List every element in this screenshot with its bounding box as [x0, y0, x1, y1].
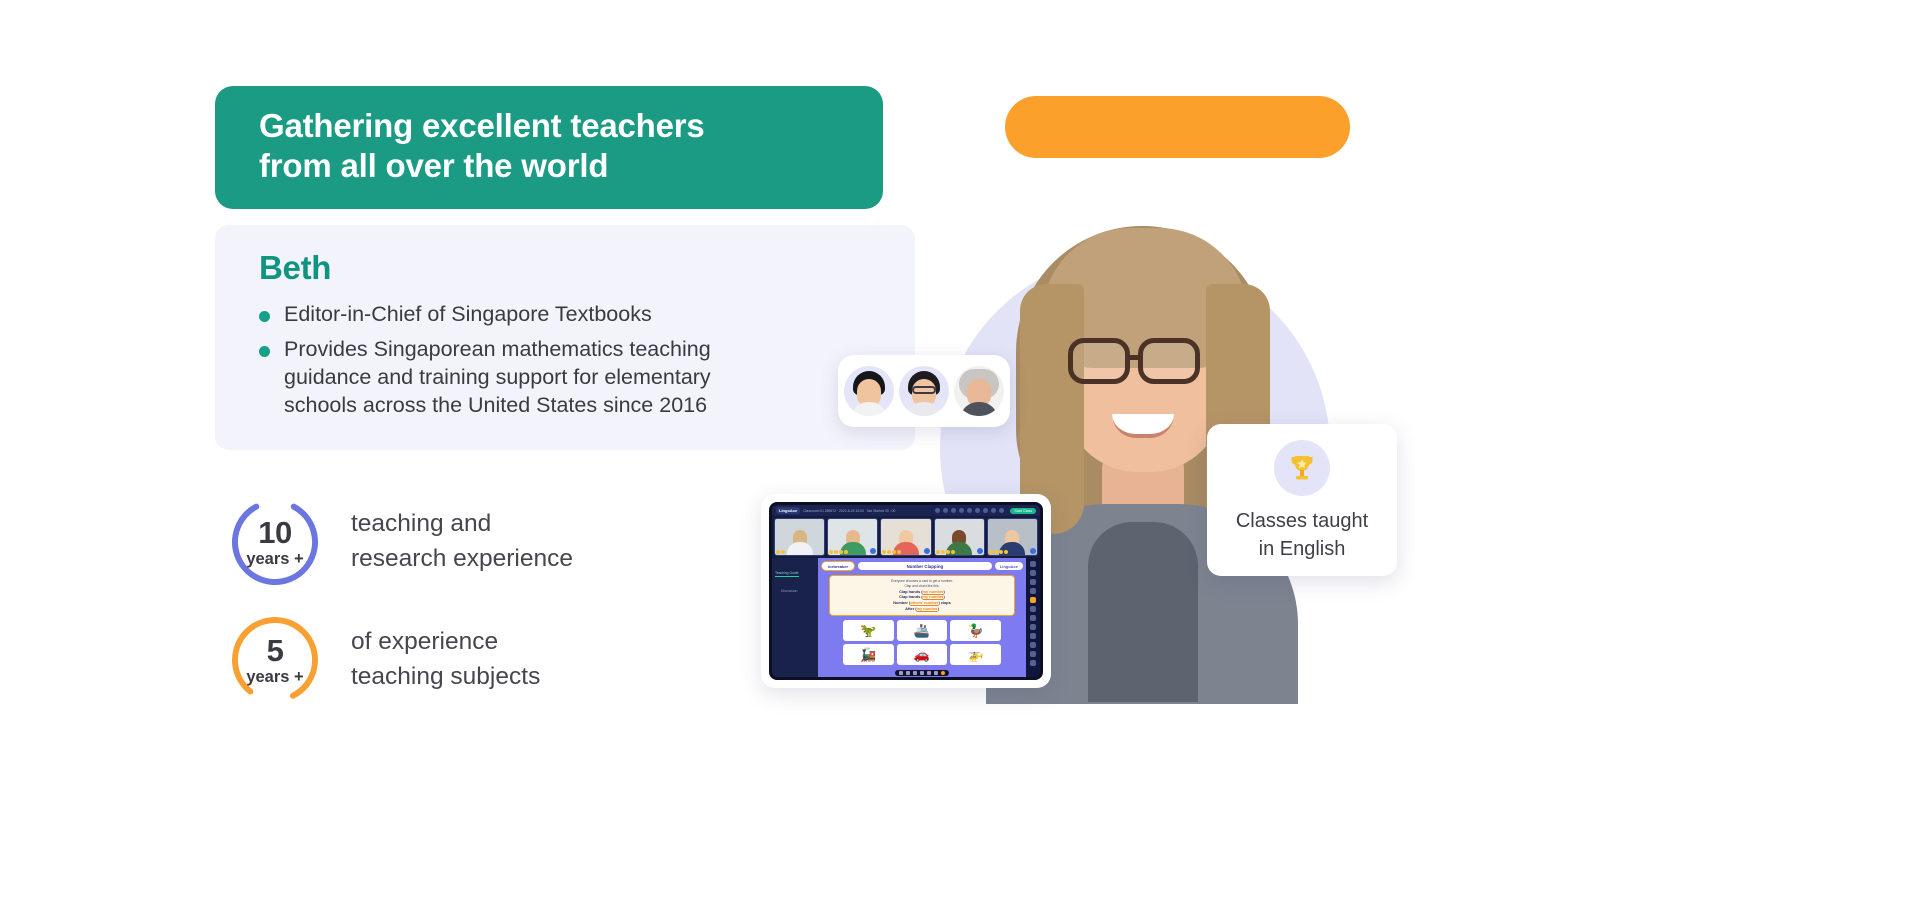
fullscreen-icon[interactable]	[934, 671, 938, 675]
tab-discussion[interactable]: Discussion	[781, 589, 797, 593]
users-icon[interactable]	[935, 508, 940, 513]
lesson-page-toolbar[interactable]	[895, 670, 949, 676]
undo-rail-icon[interactable]	[1030, 633, 1036, 639]
picture-card-train[interactable]: 🚂	[843, 644, 894, 665]
classroom-body: Teaching Guide Discussion Icebreaker Num…	[772, 558, 1040, 678]
stat-label: teaching and research experience	[351, 507, 573, 577]
pointer-tool-icon[interactable]	[941, 671, 945, 675]
bullet-line: Editor-in-Chief of Singapore Textbooks	[284, 301, 652, 329]
teacher-bio-card: Beth Editor-in-Chief of Singapore Textbo…	[215, 225, 915, 451]
mic-rail-icon[interactable]	[1030, 561, 1036, 567]
stat-label-line: research experience	[351, 542, 573, 577]
progress-ring-5-years: 5 years +	[227, 612, 323, 708]
picture-card-duck[interactable]: 🦆	[950, 620, 1001, 641]
picture-card-car[interactable]: 🚗	[897, 644, 948, 665]
zoom-out-icon[interactable]	[920, 671, 924, 675]
hand-icon[interactable]	[967, 508, 972, 513]
list-item: Editor-in-Chief of Singapore Textbooks	[259, 301, 875, 329]
page-indicator-icon	[906, 671, 910, 675]
classroom-meta: Classroom ID 289672 · 2022-8-25 10:00	[803, 509, 864, 513]
tile-controls[interactable]	[936, 550, 955, 554]
thumbsup-rail-icon[interactable]	[1030, 570, 1036, 576]
teacher-name: Beth	[259, 249, 875, 287]
badge-text: Classes taught in English	[1236, 508, 1368, 563]
board-icon[interactable]	[983, 508, 988, 513]
stat-number: 10	[258, 517, 291, 548]
trophy-icon	[1285, 451, 1319, 485]
participant-filmstrip	[772, 516, 1040, 558]
stat-unit: years +	[246, 669, 303, 686]
avatar[interactable]	[899, 366, 949, 416]
cta-button[interactable]	[1005, 96, 1350, 158]
bullet-line: guidance and training support for elemen…	[284, 364, 711, 392]
bullet-line: Provides Singaporean mathematics teachin…	[284, 336, 711, 364]
next-page-icon[interactable]	[913, 671, 917, 675]
list-item: Provides Singaporean mathematics teachin…	[259, 336, 875, 420]
teacher-avatar-group[interactable]	[838, 355, 1010, 427]
shape-rail-icon[interactable]	[1030, 615, 1036, 621]
glasses-left-lens-icon	[1068, 338, 1130, 384]
zoom-in-icon[interactable]	[927, 671, 931, 675]
glasses-bridge-icon	[1130, 355, 1140, 360]
settings-icon[interactable]	[991, 508, 996, 513]
headline-line-1: Gathering excellent teachers	[259, 106, 839, 146]
bullet-dot-icon	[259, 346, 270, 357]
classroom-screen: LingoAce Classroom ID 289672 · 2022-8-25…	[769, 502, 1043, 680]
avatar-body	[850, 402, 888, 416]
stat-label-line: of experience	[351, 625, 540, 660]
redo-rail-icon[interactable]	[1030, 642, 1036, 648]
lesson-instruction-card: Everyone chooses a card to get a number.…	[829, 575, 1015, 616]
classroom-logo: LingoAce	[776, 507, 800, 514]
participant-tile[interactable]	[774, 518, 825, 556]
stat-number: 5	[267, 635, 284, 666]
eraser-rail-icon[interactable]	[1030, 606, 1036, 612]
tablet-device: LingoAce Classroom ID 289672 · 2022-8-25…	[761, 494, 1051, 688]
expand-icon[interactable]	[999, 508, 1004, 513]
stat-label-line: teaching subjects	[351, 660, 540, 695]
avatar-body	[960, 402, 998, 416]
avatar[interactable]	[954, 366, 1004, 416]
tile-controls[interactable]	[989, 550, 1008, 554]
participant-tile[interactable]	[880, 518, 931, 556]
timer-icon[interactable]	[951, 508, 956, 513]
start-class-button[interactable]: Start Class	[1010, 508, 1036, 514]
participant-tile[interactable]	[987, 518, 1038, 556]
person-rail-icon[interactable]	[1030, 579, 1036, 585]
lesson-header: Icebreaker Number Clapping LingoAce	[821, 561, 1023, 571]
classes-taught-badge-card: Classes taught in English	[1207, 424, 1397, 576]
tile-controls[interactable]	[882, 550, 901, 554]
stat-unit: years +	[246, 551, 303, 568]
ring-inner-text: 5 years +	[227, 612, 323, 708]
lesson-stage: Icebreaker Number Clapping LingoAce Ever…	[818, 558, 1026, 678]
picture-card-ship[interactable]: 🚢	[897, 620, 948, 641]
tile-controls[interactable]	[829, 550, 848, 554]
tile-controls[interactable]	[776, 550, 785, 554]
glasses-right-lens-icon	[1138, 338, 1200, 384]
badge-line-1: Classes taught	[1236, 508, 1368, 536]
smiley-icon[interactable]	[959, 508, 964, 513]
classroom-topbar: LingoAce Classroom ID 289672 · 2022-8-25…	[772, 505, 1040, 516]
icebreaker-chip[interactable]: Icebreaker	[821, 561, 855, 571]
classroom-toolbar-icons[interactable]	[935, 508, 1004, 513]
save-rail-icon[interactable]	[1030, 660, 1036, 666]
bullet-text: Provides Singaporean mathematics teachin…	[284, 336, 711, 420]
portrait-shirt	[1088, 522, 1198, 702]
classroom-sidebar: Teaching Guide Discussion	[772, 558, 818, 678]
bullet-dot-icon	[259, 311, 270, 322]
picture-card-grid: 🦖 🚢 🦆 🚂 🚗 🚁	[821, 616, 1023, 665]
avatar[interactable]	[844, 366, 894, 416]
classroom-tool-rail[interactable]	[1026, 558, 1040, 678]
mic-icon[interactable]	[924, 548, 930, 554]
lingoace-brand-chip: LingoAce	[995, 562, 1023, 570]
lesson-title-chip: Number Clapping	[858, 562, 992, 570]
bio-bullet-list: Editor-in-Chief of Singapore Textbooks P…	[259, 301, 875, 421]
progress-ring-10-years: 10 years +	[227, 494, 323, 590]
classroom-status: Not Started 00 : 00	[867, 509, 895, 513]
trophy-icon-background	[1274, 440, 1330, 496]
arrow-rail-icon[interactable]	[1030, 624, 1036, 630]
headline-line-2: from all over the world	[259, 146, 839, 186]
bullet-text: Editor-in-Chief of Singapore Textbooks	[284, 301, 652, 329]
group-rail-icon[interactable]	[1030, 588, 1036, 594]
mic-icon[interactable]	[977, 548, 983, 554]
person-icon[interactable]	[943, 508, 948, 513]
lesson-line-4: After (my number)	[834, 606, 1010, 612]
picture-card-dinosaur[interactable]: 🦖	[843, 620, 894, 641]
headline-banner: Gathering excellent teachers from all ov…	[215, 86, 883, 209]
chat-icon[interactable]	[975, 508, 980, 513]
pen-rail-icon[interactable]	[1030, 597, 1036, 603]
picture-card-helicopter[interactable]: 🚁	[950, 644, 1001, 665]
avatar-glasses-icon	[912, 386, 936, 394]
participant-tile[interactable]	[934, 518, 985, 556]
bullet-line: schools across the United States since 2…	[284, 392, 711, 420]
page-root: Gathering excellent teachers from all ov…	[0, 0, 1920, 915]
avatar-body	[905, 402, 943, 416]
mic-icon[interactable]	[1030, 548, 1036, 554]
stat-label-line: teaching and	[351, 507, 573, 542]
badge-line-2: in English	[1236, 536, 1368, 564]
ring-inner-text: 10 years +	[227, 494, 323, 590]
tab-teaching-guide[interactable]: Teaching Guide	[775, 571, 799, 577]
capture-rail-icon[interactable]	[1030, 651, 1036, 657]
participant-tile[interactable]	[827, 518, 878, 556]
stat-label: of experience teaching subjects	[351, 625, 540, 695]
prev-page-icon[interactable]	[899, 671, 903, 675]
